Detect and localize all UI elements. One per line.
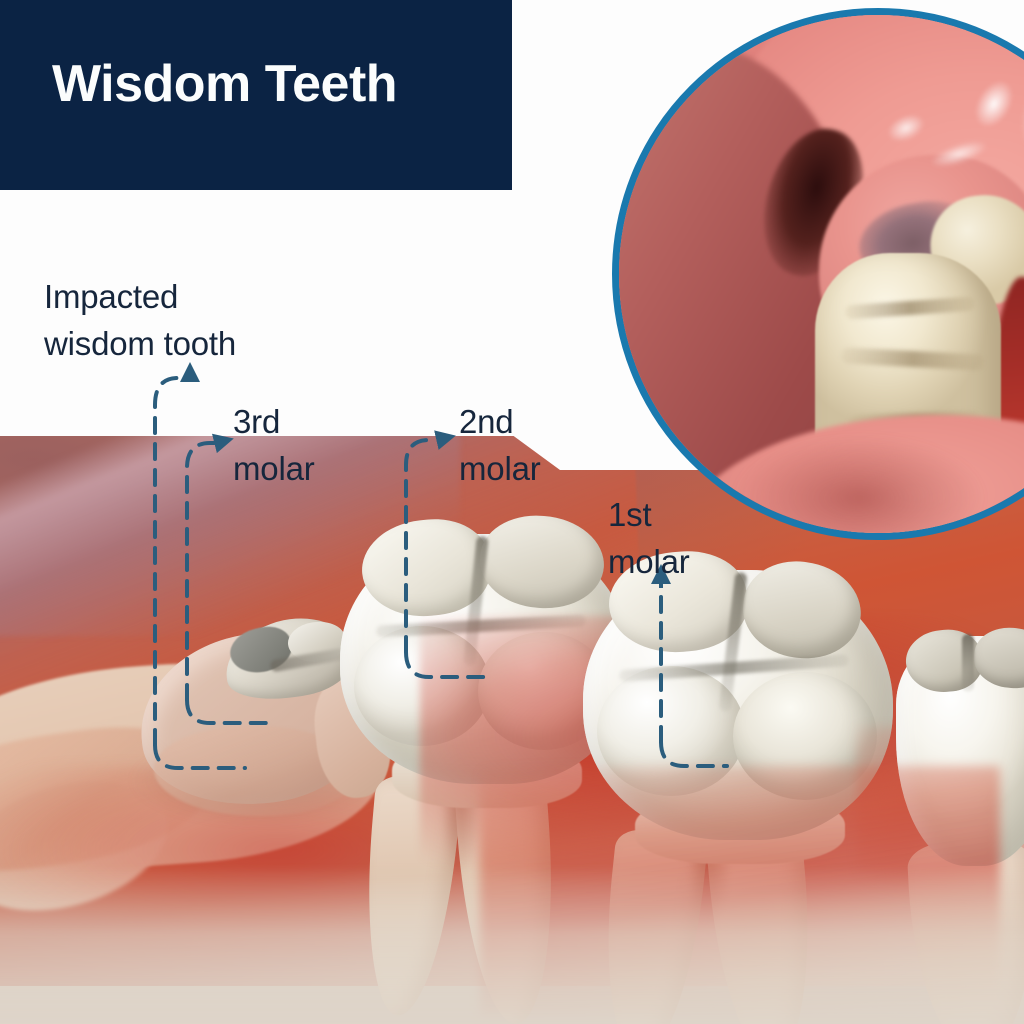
label-second-molar: 2nd molar: [459, 399, 541, 493]
label-third-molar: 3rd molar: [233, 399, 315, 493]
leader-impacted-wisdom-tooth: [155, 368, 245, 768]
leader-lines-group: [0, 0, 1024, 1024]
infographic-canvas: Wisdom Teeth: [0, 0, 1024, 1024]
label-impacted-wisdom-tooth: Impacted wisdom tooth: [44, 274, 236, 368]
label-first-molar: 1st molar: [608, 492, 690, 586]
leader-first-molar: [661, 570, 727, 766]
